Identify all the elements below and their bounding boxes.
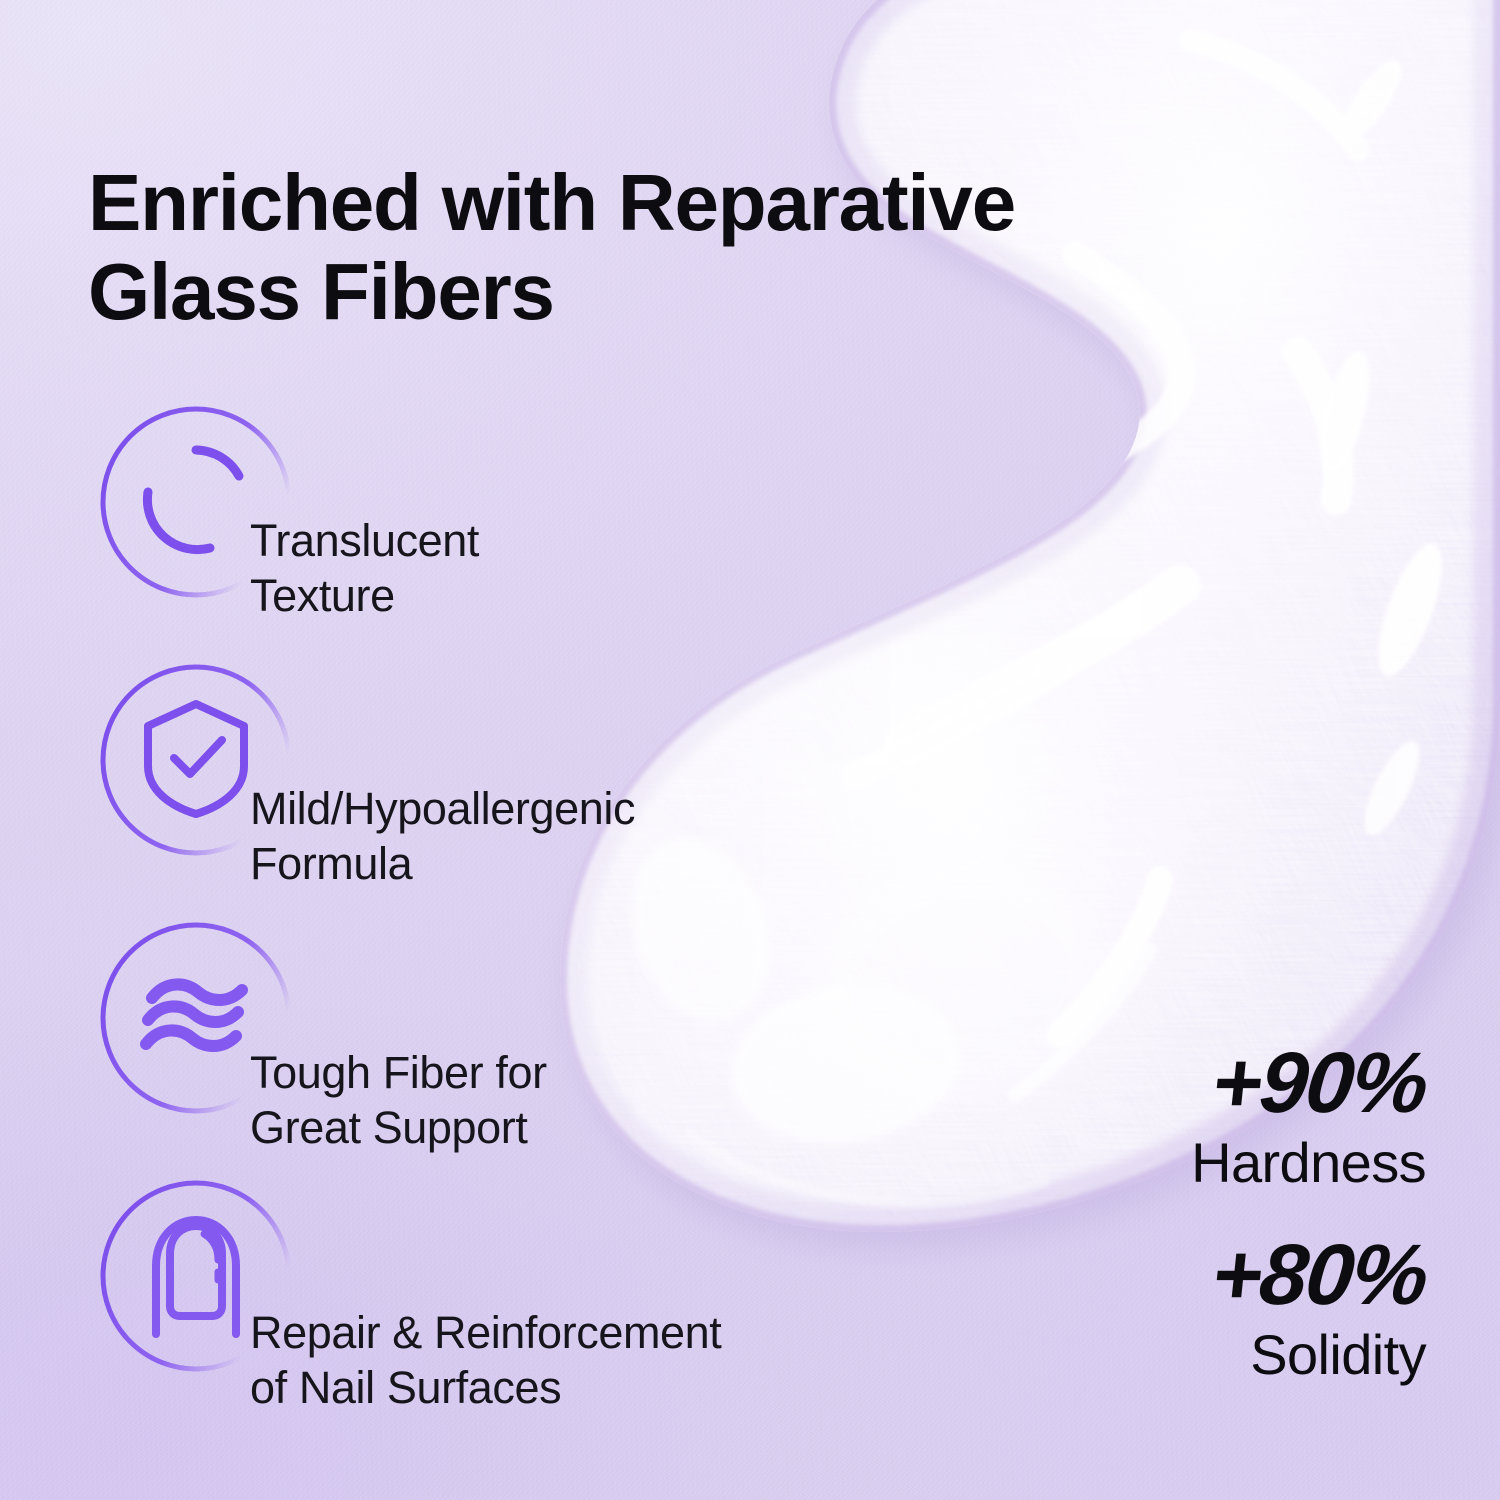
feature-item-nail-repair: Repair & Reinforcement of Nail Surfaces (96, 1176, 796, 1434)
shield-check-icon (132, 694, 260, 822)
feature-label-2-line-2: Formula (250, 837, 810, 892)
stat-solidity-label: Solidity (1191, 1322, 1426, 1388)
page-title: Enriched with Reparative Glass Fibers (88, 158, 1268, 337)
stat-solidity: +80% Solidity (1191, 1232, 1426, 1388)
stat-hardness-value: +90% (1207, 1040, 1431, 1128)
product-feature-banner: Enriched with Reparative Glass Fibers (0, 0, 1500, 1500)
fingernail-icon (132, 1210, 260, 1338)
feature-label-3: Tough Fiber for Great Support (250, 1046, 810, 1156)
feature-label-4: Repair & Reinforcement of Nail Surfaces (250, 1306, 810, 1416)
feature-label-4-line-2: of Nail Surfaces (250, 1361, 810, 1416)
stats-block: +90% Hardness +80% Solidity (1191, 1040, 1426, 1388)
feature-label-3-line-2: Great Support (250, 1101, 810, 1156)
stat-hardness: +90% Hardness (1191, 1040, 1426, 1196)
feature-label-1-line-1: Translucent (250, 514, 810, 569)
wavy-fibers-icon (132, 952, 260, 1080)
feature-label-2: Mild/Hypoallergenic Formula (250, 782, 810, 892)
feature-label-1-line-2: Texture (250, 569, 810, 624)
headline-line-1: Enriched with Reparative (88, 158, 1015, 247)
feature-list: Translucent Texture (96, 402, 796, 1434)
stat-solidity-value: +80% (1207, 1232, 1431, 1320)
translucent-drop-icon (132, 436, 260, 564)
feature-item-hypoallergenic-formula: Mild/Hypoallergenic Formula (96, 660, 796, 918)
headline-line-2: Glass Fibers (88, 247, 1268, 337)
stat-hardness-label: Hardness (1191, 1130, 1426, 1196)
feature-label-3-line-1: Tough Fiber for (250, 1046, 810, 1101)
feature-label-4-line-1: Repair & Reinforcement (250, 1306, 810, 1361)
feature-item-translucent-texture: Translucent Texture (96, 402, 796, 660)
feature-label-1: Translucent Texture (250, 514, 810, 624)
feature-item-tough-fiber: Tough Fiber for Great Support (96, 918, 796, 1176)
feature-label-2-line-1: Mild/Hypoallergenic (250, 782, 810, 837)
